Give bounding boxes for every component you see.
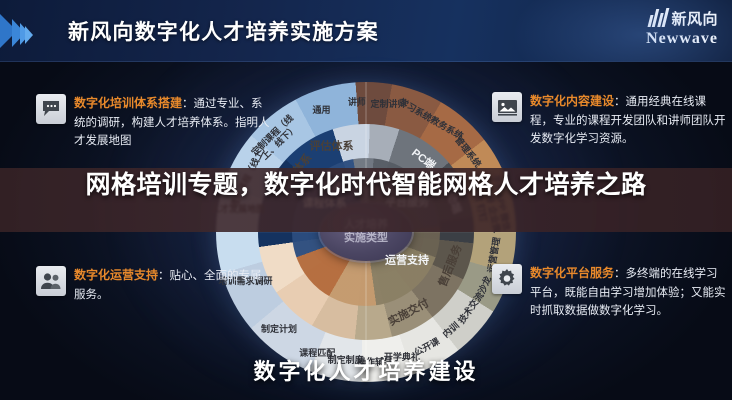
wheel-inner-label: 运营支持 — [385, 254, 429, 267]
brand-logo: 新风向 Newwave — [646, 8, 718, 48]
callout-heading: 数字化培训体系搭建 — [74, 96, 182, 110]
callout-separator: ： — [158, 270, 170, 282]
page-title: 新风向数字化人才培养实施方案 — [68, 16, 379, 46]
callout-bottom-left: 数字化运营支持：贴心、全面的专属服务。 — [36, 266, 271, 304]
callout-text: 数字化培训体系搭建：通过专业、系统的调研，构建人才培养体系。指明人才发展地图 — [74, 94, 271, 151]
users-people-icon — [36, 266, 66, 296]
callout-top-right: 数字化内容建设：通用经典在线课程，专业的课程开发团队和讲师团队开发数字化学习资源… — [492, 92, 727, 149]
wheel-mid-label: 评估体系 — [310, 140, 354, 153]
callout-heading: 数字化运营支持 — [74, 268, 158, 282]
callout-heading: 数字化内容建设 — [530, 94, 614, 108]
image-picture-icon — [492, 92, 522, 122]
callout-text: 数字化内容建设：通用经典在线课程，专业的课程开发团队和讲师团队开发数字化学习资源… — [530, 92, 727, 149]
callout-separator: ： — [614, 268, 626, 280]
wheel-outer-label: 通用 — [313, 105, 331, 115]
callout-top-left: 数字化培训体系搭建：通过专业、系统的调研，构建人才培养体系。指明人才发展地图 — [36, 94, 271, 151]
logo-name-cn: 新风向 — [671, 12, 718, 27]
callout-bottom-right: 数字化平台服务：多终端的在线学习平台，既能自由学习增加体验；又能实时抓取数据做数… — [492, 264, 727, 321]
callout-heading: 数字化平台服务 — [530, 266, 614, 280]
wheel-outer-label: 制定计划 — [261, 323, 297, 333]
gear-settings-icon — [492, 264, 522, 294]
logo-mark-icon — [649, 8, 667, 27]
chevron-right-icon — [0, 14, 28, 48]
speech-bubble-icon — [36, 94, 66, 124]
slide-image: 新风向数字化人才培养实施方案 新风向 Newwave 人才培养 实施类型 课程体… — [0, 0, 732, 400]
callout-text: 数字化平台服务：多终端的在线学习平台，既能自由学习增加体验；又能实时抓取数据做数… — [530, 264, 727, 321]
callout-text: 数字化运营支持：贴心、全面的专属服务。 — [74, 266, 271, 304]
hub-label-line2: 实施类型 — [344, 232, 388, 244]
bottom-caption: 数字化人才培养建设 — [0, 354, 732, 386]
wheel-outer-label: 讲师 — [348, 97, 366, 107]
logo-name-en: Newwave — [646, 29, 718, 48]
slide-header-bar: 新风向数字化人才培养实施方案 新风向 Newwave — [0, 0, 732, 62]
callout-separator: ： — [614, 96, 626, 108]
callout-separator: ： — [182, 98, 194, 110]
overlay-headline: 网格培训专题，数字化时代智能网格人才培养之路 — [0, 170, 732, 201]
